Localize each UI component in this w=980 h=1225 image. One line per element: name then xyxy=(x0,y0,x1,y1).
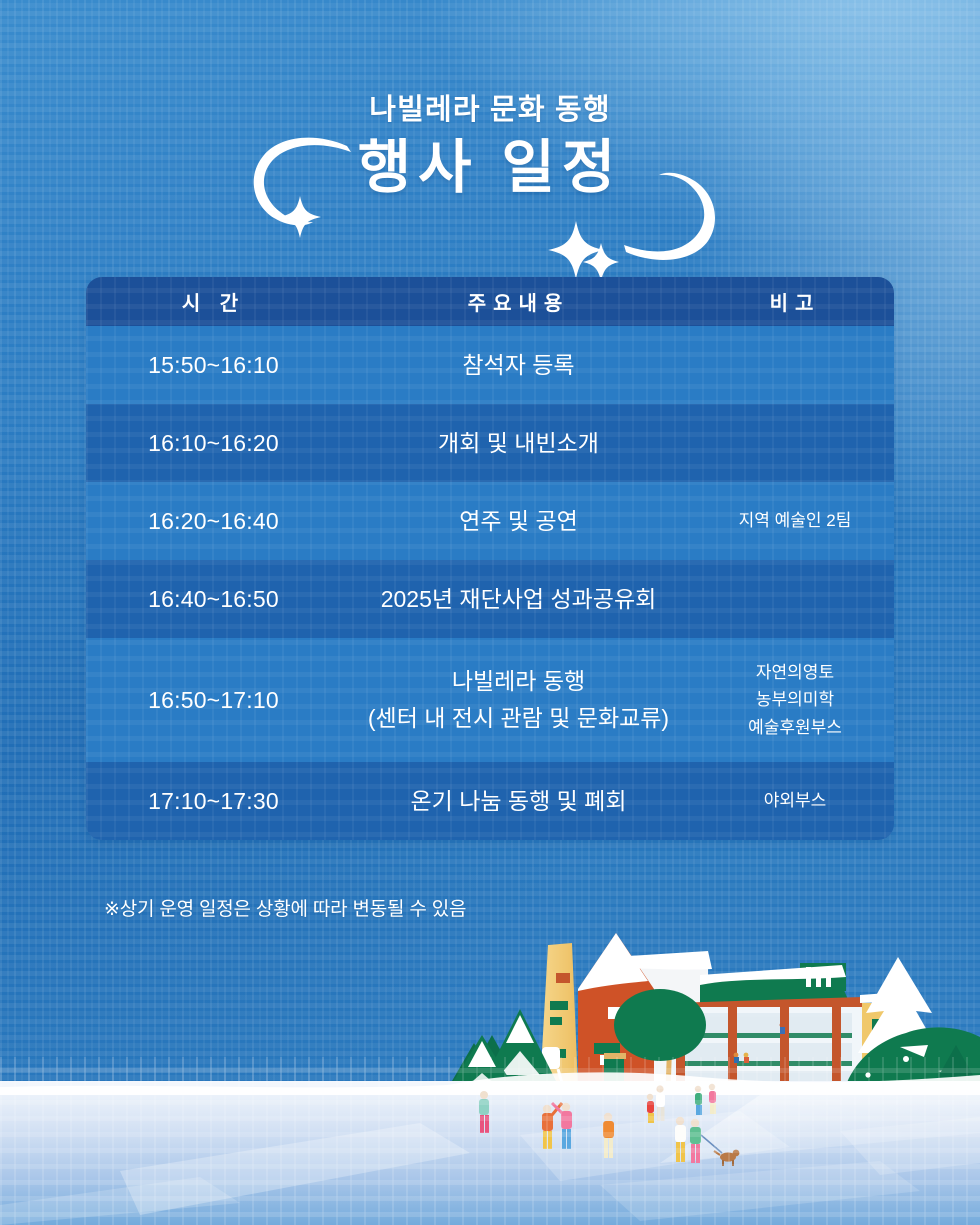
poster-subtitle: 나빌레라 문화 동행 xyxy=(0,96,980,125)
cell-note-line: 농부의미학 xyxy=(696,686,894,714)
table-row: 16:10~16:20 개회 및 내빈소개 xyxy=(86,404,894,482)
cell-detail-line1: 참석자 등록 xyxy=(462,352,574,378)
cell-note-line: 자연의영토 xyxy=(696,659,894,687)
cell-note-line: 야외부스 xyxy=(696,787,894,815)
cell-detail: 연주 및 공연 xyxy=(341,503,696,540)
poster-title: 행사 일정 xyxy=(0,138,980,199)
snow-ground xyxy=(0,1072,980,1225)
cell-note-line: 지역 예술인 2팀 xyxy=(696,507,894,535)
column-header-note: 비고 xyxy=(696,287,894,316)
winter-cultural-center-illustration xyxy=(0,885,980,1225)
cell-note-line: 예술후원부스 xyxy=(696,714,894,742)
schedule-table: 시 간 주요내용 비고 15:50~16:10 참석자 등록 16:10~16:… xyxy=(86,277,894,840)
cell-note: 야외부스 xyxy=(696,787,894,815)
column-header-time: 시 간 xyxy=(86,287,341,316)
cell-time: 16:10~16:20 xyxy=(86,430,341,457)
cell-detail: 2025년 재단사업 성과공유회 xyxy=(341,581,696,618)
cell-detail: 나빌레라 동행 (센터 내 전시 관람 및 문화교류) xyxy=(341,663,696,737)
cell-detail-line1: 온기 나눔 동행 및 폐회 xyxy=(410,788,626,814)
table-row: 15:50~16:10 참석자 등록 xyxy=(86,326,894,404)
column-header-detail: 주요내용 xyxy=(341,287,696,316)
cell-time: 16:40~16:50 xyxy=(86,586,341,613)
cell-time: 15:50~16:10 xyxy=(86,352,341,379)
cell-time: 17:10~17:30 xyxy=(86,788,341,815)
cell-detail-line1: 개회 및 내빈소개 xyxy=(438,430,599,456)
cell-detail-line1: 2025년 재단사업 성과공유회 xyxy=(381,586,657,612)
cell-detail-line1: 나빌레라 동행 xyxy=(452,668,585,694)
cell-note: 자연의영토 농부의미학 예술후원부스 xyxy=(696,659,894,742)
cell-time: 16:50~17:10 xyxy=(86,687,341,714)
poster-canvas: 나빌레라 문화 동행 행사 일정 시 간 주요내용 비고 15:50~16:10… xyxy=(0,0,980,1225)
cell-detail-line2: (센터 내 전시 관람 및 문화교류) xyxy=(341,700,696,737)
table-row: 17:10~17:30 온기 나눔 동행 및 폐회 야외부스 xyxy=(86,762,894,840)
cell-detail: 개회 및 내빈소개 xyxy=(341,425,696,462)
table-row: 16:40~16:50 2025년 재단사업 성과공유회 xyxy=(86,560,894,638)
cell-detail-line1: 연주 및 공연 xyxy=(459,508,578,534)
table-row: 16:20~16:40 연주 및 공연 지역 예술인 2팀 xyxy=(86,482,894,560)
cell-detail: 참석자 등록 xyxy=(341,347,696,384)
cell-time: 16:20~16:40 xyxy=(86,508,341,535)
table-header-row: 시 간 주요내용 비고 xyxy=(86,277,894,326)
cell-note: 지역 예술인 2팀 xyxy=(696,507,894,535)
table-row: 16:50~17:10 나빌레라 동행 (센터 내 전시 관람 및 문화교류) … xyxy=(86,638,894,762)
cell-detail: 온기 나눔 동행 및 폐회 xyxy=(341,783,696,820)
poster-title-block: 나빌레라 문화 동행 행사 일정 xyxy=(0,96,980,276)
